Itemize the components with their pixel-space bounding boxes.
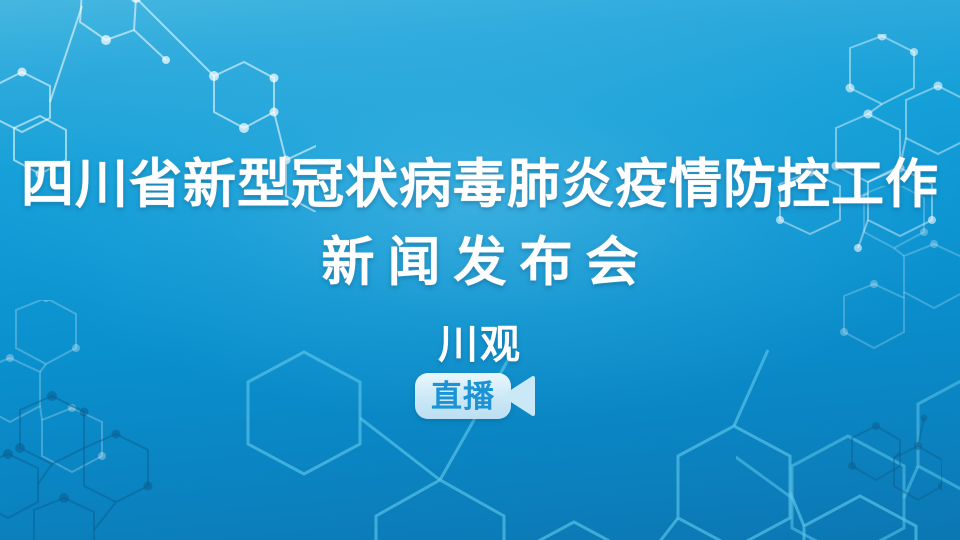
poster-title: 四川省新型冠状病毒肺炎疫情防控工作 新闻发布会: [0, 150, 960, 298]
molecule-cluster-mid-left: [0, 300, 170, 510]
video-camera-lens-icon: [503, 376, 537, 416]
poster-canvas: 四川省新型冠状病毒肺炎疫情防控工作 新闻发布会 川观 直播: [0, 0, 960, 540]
chuanguan-live-logo[interactable]: 川观 直播: [415, 324, 545, 419]
molecule-hexagon-bottom-right: [736, 380, 960, 540]
logo-live-badge-label: 直播: [431, 381, 495, 412]
molecule-hexagon-chain-bottom: [208, 340, 960, 540]
molecule-cluster-bottom-left: [0, 370, 260, 540]
poster-content: 四川省新型冠状病毒肺炎疫情防控工作 新闻发布会 川观 直播: [0, 0, 960, 540]
molecule-cluster-bottom-right-small: [832, 412, 942, 512]
logo-live-badge: 直播: [415, 373, 511, 419]
logo-brand-text: 川观: [438, 324, 522, 366]
title-line-1: 四川省新型冠状病毒肺炎疫情防控工作: [0, 150, 960, 220]
title-line-2: 新闻发布会: [0, 228, 960, 298]
logo-live-badge-wrap: 直播: [415, 373, 545, 419]
